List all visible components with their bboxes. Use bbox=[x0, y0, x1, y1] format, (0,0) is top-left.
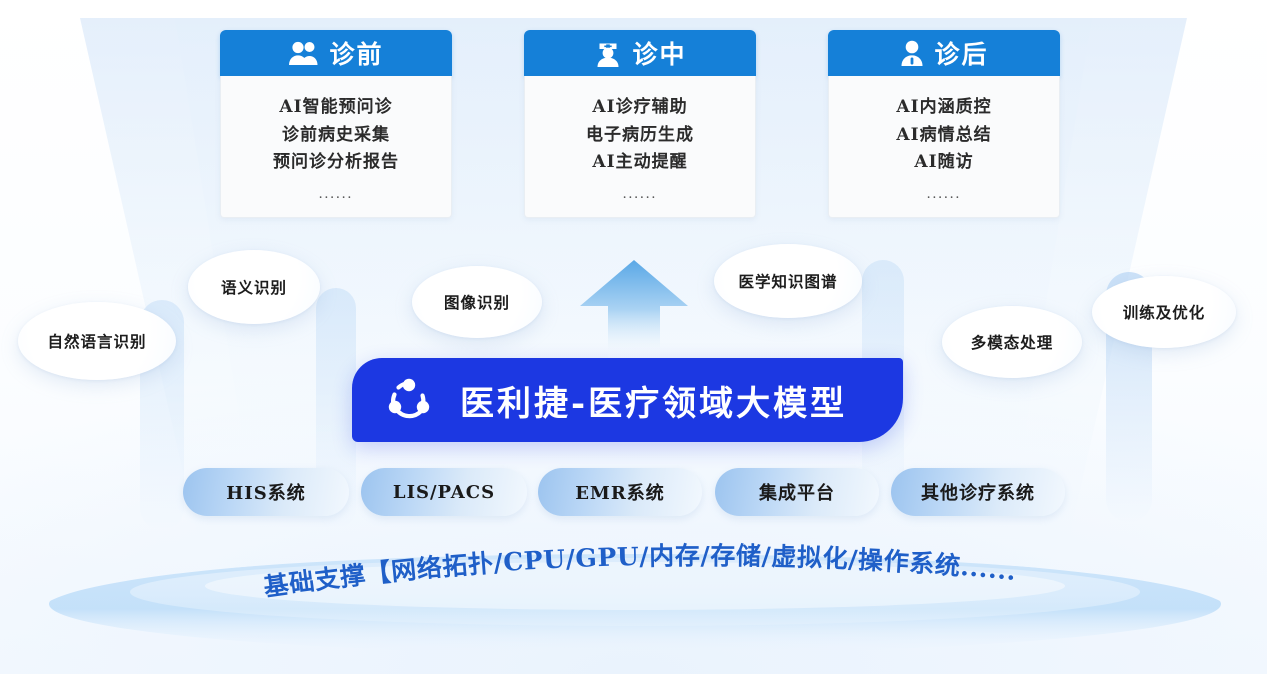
model-banner-title: 医利捷-医疗领域大模型 bbox=[460, 376, 847, 425]
capability-label: 多模态处理 bbox=[971, 331, 1054, 353]
capability-label: 图像识别 bbox=[444, 291, 510, 313]
person-icon bbox=[899, 39, 925, 67]
architecture-diagram: 诊前 AI智能预问诊 诊前病史采集 预问诊分析报告 ...... 诊中 AI诊疗… bbox=[0, 0, 1267, 674]
stage-item: 电子病历生成 bbox=[535, 122, 745, 150]
foundation-support-text: 基础支撑【网络拓扑/CPU/GPU/内存/存储/虚拟化/操作系统......】 bbox=[0, 536, 1267, 616]
system-pill-integration-platform[interactable]: 集成平台 bbox=[715, 468, 879, 516]
system-label: 集成平台 bbox=[759, 479, 835, 505]
stage-item: 预问诊分析报告 bbox=[231, 149, 441, 177]
foundation-text: 基础支撑【网络拓扑/CPU/GPU/内存/存储/虚拟化/操作系统......】 bbox=[0, 536, 1018, 602]
system-label: HIS系统 bbox=[226, 479, 305, 505]
capability-bubble-image[interactable]: 图像识别 bbox=[412, 266, 542, 338]
capability-label: 训练及优化 bbox=[1123, 301, 1206, 323]
system-pill-his[interactable]: HIS系统 bbox=[183, 468, 349, 516]
stage-card-header: 诊中 bbox=[524, 30, 756, 76]
capability-bubble-nlp[interactable]: 自然语言识别 bbox=[18, 302, 176, 380]
stage-title: 诊后 bbox=[934, 35, 988, 71]
stage-ellipsis: ...... bbox=[535, 186, 745, 203]
stage-card-body: AI内涵质控 AI病情总结 AI随访 ...... bbox=[828, 76, 1060, 218]
stage-item: AI随访 bbox=[839, 149, 1049, 177]
foundation-textpath: 基础支撑【网络拓扑/CPU/GPU/内存/存储/虚拟化/操作系统......】 bbox=[0, 536, 1018, 602]
stage-item: AI病情总结 bbox=[839, 122, 1049, 150]
capability-label: 语义识别 bbox=[221, 276, 287, 298]
capability-bubble-multimodal[interactable]: 多模态处理 bbox=[942, 306, 1082, 378]
stage-ellipsis: ...... bbox=[231, 186, 441, 203]
capability-bubble-knowledge-graph[interactable]: 医学知识图谱 bbox=[714, 244, 862, 318]
stage-card-in-visit[interactable]: 诊中 AI诊疗辅助 电子病历生成 AI主动提醒 ...... bbox=[524, 30, 756, 218]
stage-title: 诊中 bbox=[632, 35, 686, 71]
stage-card-body: AI智能预问诊 诊前病史采集 预问诊分析报告 ...... bbox=[220, 76, 452, 218]
model-banner[interactable]: 医利捷-医疗领域大模型 bbox=[352, 358, 903, 442]
stage-card-header: 诊前 bbox=[220, 30, 452, 76]
stage-card-body: AI诊疗辅助 电子病历生成 AI主动提醒 ...... bbox=[524, 76, 756, 218]
stage-card-post-visit[interactable]: 诊后 AI内涵质控 AI病情总结 AI随访 ...... bbox=[828, 30, 1060, 218]
stage-card-pre-visit[interactable]: 诊前 AI智能预问诊 诊前病史采集 预问诊分析报告 ...... bbox=[220, 30, 452, 218]
system-pill-other[interactable]: 其他诊疗系统 bbox=[891, 468, 1065, 516]
network-share-icon bbox=[384, 375, 434, 425]
stage-ellipsis: ...... bbox=[839, 186, 1049, 203]
system-label: EMR系统 bbox=[575, 479, 665, 505]
system-pill-emr[interactable]: EMR系统 bbox=[538, 468, 702, 516]
system-label: LIS/PACS bbox=[393, 482, 495, 503]
stage-card-header: 诊后 bbox=[828, 30, 1060, 76]
system-pill-lis[interactable]: LIS/PACS bbox=[361, 468, 527, 516]
doctor-icon bbox=[593, 39, 623, 68]
system-label: 其他诊疗系统 bbox=[921, 479, 1035, 505]
capability-bubble-training[interactable]: 训练及优化 bbox=[1092, 276, 1236, 348]
stage-item: AI内涵质控 bbox=[839, 94, 1049, 122]
stage-item: AI主动提醒 bbox=[535, 149, 745, 177]
capability-label: 医学知识图谱 bbox=[738, 270, 837, 292]
capability-label: 自然语言识别 bbox=[47, 330, 146, 352]
stage-item: AI诊疗辅助 bbox=[535, 94, 745, 122]
stage-item: 诊前病史采集 bbox=[231, 122, 441, 150]
two-people-icon bbox=[288, 39, 320, 67]
stage-title: 诊前 bbox=[329, 35, 383, 71]
up-arrow-icon bbox=[578, 258, 690, 358]
stage-item: AI智能预问诊 bbox=[231, 94, 441, 122]
capability-bubble-semantic[interactable]: 语义识别 bbox=[188, 250, 320, 324]
